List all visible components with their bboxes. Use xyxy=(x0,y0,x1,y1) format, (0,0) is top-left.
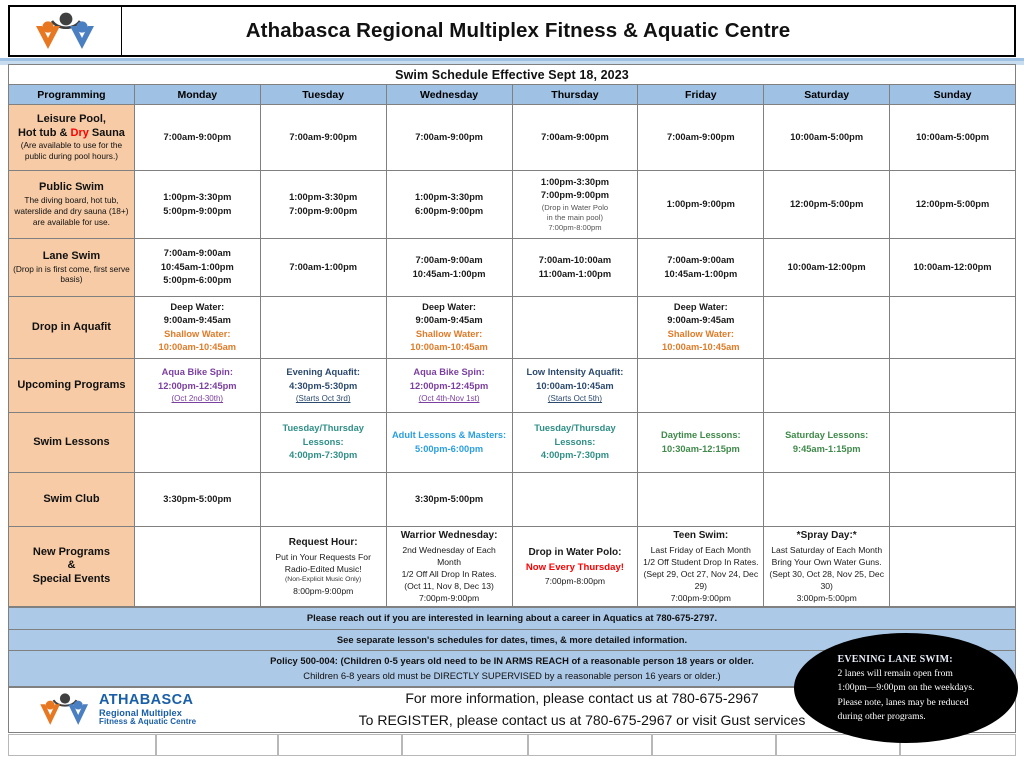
cell-line: 10:00am-12:00pm xyxy=(893,261,1012,274)
cell-line: 12:00pm-12:45pm xyxy=(390,380,509,393)
schedule-cell: 7:00am-9:00am10:45am-1:00pm5:00pm-6:00pm xyxy=(134,239,260,297)
athabasca-multiplex-logo-icon xyxy=(10,7,122,55)
schedule-cell: Aqua Bike Spin:12:00pm-12:45pm(Oct 4th-N… xyxy=(386,359,512,413)
row-label-title: Leisure Pool, xyxy=(12,113,131,127)
column-header-wednesday: Wednesday xyxy=(386,85,512,105)
evening-lane-swim-line-2: Please note, lanes may be reduced xyxy=(838,696,975,710)
cell-line: 10:00am-10:45am xyxy=(390,341,509,354)
row-label-title: Lane Swim xyxy=(12,250,131,264)
cell-line: (Sept 29, Oct 27, Nov 24, Dec 29) xyxy=(641,568,760,592)
cell-line: 11:00am-1:00pm xyxy=(516,268,635,281)
row-label-subtitle: (Are available to use for the public dur… xyxy=(12,140,131,162)
cell-line: Daytime Lessons: xyxy=(641,429,760,442)
schedule-cell: Teen Swim:Last Friday of Each Month1/2 O… xyxy=(638,527,764,607)
schedule-cell: 7:00am-9:00pm xyxy=(638,105,764,171)
schedule-cell: 10:00am-5:00pm xyxy=(764,105,890,171)
row-label: Drop in Aquafit xyxy=(9,297,135,359)
row-label: Public SwimThe diving board, hot tub, wa… xyxy=(9,171,135,239)
schedule-cell xyxy=(764,359,890,413)
cell-line: 7:00am-9:00pm xyxy=(138,131,257,144)
evening-lane-swim-line-3: during other programs. xyxy=(838,710,975,724)
cell-line: Saturday Lessons: xyxy=(767,429,886,442)
cell-line: 7:00am-9:00am xyxy=(138,247,257,260)
cell-line: 1:00pm-9:00pm xyxy=(641,198,760,211)
cell-line: 6:00pm-9:00pm xyxy=(390,205,509,218)
cell-line: (Starts Oct 5th) xyxy=(516,393,635,405)
cell-line: 3:00pm-5:00pm xyxy=(767,592,886,604)
row-label: Lane Swim(Drop in is first come, first s… xyxy=(9,239,135,297)
evening-lane-swim-line-1: 1:00pm—9:00pm on the weekdays. xyxy=(838,681,975,695)
schedule-body: Leisure Pool,Hot tub & Dry Sauna(Are ava… xyxy=(9,105,1016,607)
cell-line: Shallow Water: xyxy=(138,328,257,341)
cell-line: Aqua Bike Spin: xyxy=(390,366,509,379)
cell-line: Deep Water: xyxy=(641,301,760,314)
schedule-cell xyxy=(134,527,260,607)
row-label-title: Public Swim xyxy=(12,181,131,195)
cell-line: Drop in Water Polo: xyxy=(516,546,635,561)
row-label-part-b: Sauna xyxy=(89,127,125,139)
cell-line: 3:30pm-5:00pm xyxy=(390,493,509,506)
cell-line: Bring Your Own Water Guns. xyxy=(767,556,886,568)
cell-line: 10:45am-1:00pm xyxy=(641,268,760,281)
cell-line: Warrior Wednesday: xyxy=(390,529,509,544)
row-label: Upcoming Programs xyxy=(9,359,135,413)
schedule-cell: 7:00am-9:00pm xyxy=(386,105,512,171)
schedule-cell xyxy=(764,297,890,359)
cell-line: 2nd Wednesday of Each Month xyxy=(390,544,509,568)
schedule-cell: Evening Aquafit:4:30pm-5:30pm(Starts Oct… xyxy=(260,359,386,413)
schedule-cell: 1:00pm-3:30pm7:00pm-9:00pm(Drop in Water… xyxy=(512,171,638,239)
cell-line: Deep Water: xyxy=(138,301,257,314)
schedule-cell xyxy=(890,527,1016,607)
cell-line: 10:00am-12:00pm xyxy=(767,261,886,274)
bottom-grid-cell xyxy=(156,734,278,756)
cell-line: 12:00pm-5:00pm xyxy=(893,198,1012,211)
schedule-cell xyxy=(260,297,386,359)
schedule-row: New Programs&Special EventsRequest Hour:… xyxy=(9,527,1016,607)
cell-line: 9:00am-9:45am xyxy=(390,314,509,327)
cell-line: 12:00pm-5:00pm xyxy=(767,198,886,211)
cell-line: 9:00am-9:45am xyxy=(138,314,257,327)
evening-lane-swim-line-0: 2 lanes will remain open from xyxy=(838,667,975,681)
schedule-cell: 10:00am-12:00pm xyxy=(890,239,1016,297)
column-header-thursday: Thursday xyxy=(512,85,638,105)
schedule-cell xyxy=(512,473,638,527)
schedule-cell: Daytime Lessons:10:30am-12:15pm xyxy=(638,413,764,473)
cell-line: 10:00am-5:00pm xyxy=(893,131,1012,144)
cell-line: 1/2 Off Student Drop In Rates. xyxy=(641,556,760,568)
cell-line: 10:00am-10:45am xyxy=(641,341,760,354)
schedule-cell: 1:00pm-3:30pm5:00pm-9:00pm xyxy=(134,171,260,239)
cell-line: 7:00pm-9:00pm xyxy=(516,189,635,202)
cell-line: 10:30am-12:15pm xyxy=(641,443,760,456)
bottom-grid-cell xyxy=(652,734,776,756)
column-header-monday: Monday xyxy=(134,85,260,105)
cell-line: *Spray Day:* xyxy=(767,529,886,544)
cell-line: Evening Aquafit: xyxy=(264,366,383,379)
notice-cell: Please reach out if you are interested i… xyxy=(9,608,1016,630)
schedule-cell xyxy=(260,473,386,527)
schedule-cell: 7:00am-9:00pm xyxy=(134,105,260,171)
cell-line: Low Intensity Aquafit: xyxy=(516,366,635,379)
schedule-row: Drop in AquafitDeep Water:9:00am-9:45amS… xyxy=(9,297,1016,359)
schedule-row: Lane Swim(Drop in is first come, first s… xyxy=(9,239,1016,297)
row-label-title: Swim Club xyxy=(12,493,131,507)
row-label-title: Swim Lessons xyxy=(12,436,131,450)
schedule-cell: 7:00am-1:00pm xyxy=(260,239,386,297)
schedule-cell: Warrior Wednesday:2nd Wednesday of Each … xyxy=(386,527,512,607)
cell-line: 7:00am-9:00pm xyxy=(641,131,760,144)
schedule-cell xyxy=(512,297,638,359)
schedule-cell: 7:00am-9:00am10:45am-1:00pm xyxy=(386,239,512,297)
cell-line: 9:45am-1:15pm xyxy=(767,443,886,456)
row-label-part-dry: Dry xyxy=(71,127,89,139)
cell-line: Adult Lessons & Masters: xyxy=(390,429,509,442)
athabasca-multiplex-logo-icon-small xyxy=(37,688,93,732)
bottom-grid-cell xyxy=(402,734,528,756)
schedule-cell: 3:30pm-5:00pm xyxy=(386,473,512,527)
column-header-sunday: Sunday xyxy=(890,85,1016,105)
row-label-title: New Programs xyxy=(12,546,131,560)
cell-line: (Non-Explicit Music Only) xyxy=(264,575,383,585)
swim-schedule-page: Athabasca Regional Multiplex Fitness & A… xyxy=(0,0,1024,757)
cell-line: 1:00pm-3:30pm xyxy=(516,176,635,189)
cell-line: 1:00pm-3:30pm xyxy=(390,191,509,204)
cell-line: 1:00pm-3:30pm xyxy=(138,191,257,204)
column-header-friday: Friday xyxy=(638,85,764,105)
schedule-cell: 7:00am-9:00am10:45am-1:00pm xyxy=(638,239,764,297)
schedule-cell: 12:00pm-5:00pm xyxy=(764,171,890,239)
cell-line: 1/2 Off All Drop In Rates. xyxy=(390,568,509,580)
cell-line: Now Every Thursday! xyxy=(516,561,635,575)
schedule-cell: 10:00am-5:00pm xyxy=(890,105,1016,171)
bottom-grid-cell xyxy=(528,734,652,756)
schedule-row: Leisure Pool,Hot tub & Dry Sauna(Are ava… xyxy=(9,105,1016,171)
cell-line: Last Friday of Each Month xyxy=(641,544,760,556)
bottom-grid-cell xyxy=(278,734,402,756)
evening-lane-swim-heading: EVENING LANE SWIM: xyxy=(838,652,975,667)
cell-line: Put in Your Requests For xyxy=(264,551,383,563)
column-header-saturday: Saturday xyxy=(764,85,890,105)
schedule-cell: 1:00pm-3:30pm6:00pm-9:00pm xyxy=(386,171,512,239)
footer-logo-text: ATHABASCA Regional Multiplex Fitness & A… xyxy=(99,693,196,727)
schedule-cell: Adult Lessons & Masters:5:00pm-6:00pm xyxy=(386,413,512,473)
schedule-cell xyxy=(890,297,1016,359)
cell-line: (Oct 2nd-30th) xyxy=(138,393,257,405)
bottom-grid-cell xyxy=(8,734,156,756)
cell-line: 3:30pm-5:00pm xyxy=(138,493,257,506)
cell-line: 10:45am-1:00pm xyxy=(138,261,257,274)
cell-line: 7:00pm-8:00pm xyxy=(516,223,635,233)
row-label: New Programs&Special Events xyxy=(9,527,135,607)
schedule-cell xyxy=(134,413,260,473)
schedule-cell: 10:00am-12:00pm xyxy=(764,239,890,297)
cell-line: 5:00pm-6:00pm xyxy=(138,274,257,287)
cell-line: Aqua Bike Spin: xyxy=(138,366,257,379)
column-header-programming: Programming xyxy=(9,85,135,105)
schedule-cell: 1:00pm-9:00pm xyxy=(638,171,764,239)
schedule-cell xyxy=(764,473,890,527)
header-banner: Athabasca Regional Multiplex Fitness & A… xyxy=(8,5,1016,57)
cell-line: 5:00pm-6:00pm xyxy=(390,443,509,456)
cell-line: 10:45am-1:00pm xyxy=(390,268,509,281)
cell-line: (Oct 4th-Nov 1st) xyxy=(390,393,509,405)
schedule-cell: 7:00am-10:00am11:00am-1:00pm xyxy=(512,239,638,297)
schedule-cell: *Spray Day:*Last Saturday of Each MonthB… xyxy=(764,527,890,607)
cell-line: 4:00pm-7:30pm xyxy=(264,449,383,462)
schedule-cell: Request Hour:Put in Your Requests ForRad… xyxy=(260,527,386,607)
schedule-cell: Saturday Lessons:9:45am-1:15pm xyxy=(764,413,890,473)
row-label-subtitle: (Drop in is first come, first serve basi… xyxy=(12,264,131,286)
cell-line: 9:00am-9:45am xyxy=(641,314,760,327)
schedule-row: Upcoming ProgramsAqua Bike Spin:12:00pm-… xyxy=(9,359,1016,413)
cell-line: 1:00pm-3:30pm xyxy=(264,191,383,204)
row-label-title: Upcoming Programs xyxy=(12,379,131,393)
cell-line: Request Hour: xyxy=(264,536,383,551)
schedule-cell xyxy=(890,359,1016,413)
row-label-part-a: Hot tub & xyxy=(18,127,71,139)
cell-line: Last Saturday of Each Month xyxy=(767,544,886,556)
schedule-row: Swim LessonsTuesday/Thursday Lessons:4:0… xyxy=(9,413,1016,473)
schedule-cell: Low Intensity Aquafit:10:00am-10:45am(St… xyxy=(512,359,638,413)
row-label-subtitle: The diving board, hot tub, waterslide an… xyxy=(12,195,131,227)
cell-line: (Oct 11, Nov 8, Dec 13) xyxy=(390,580,509,592)
row-label: Swim Lessons xyxy=(9,413,135,473)
schedule-cell: Deep Water:9:00am-9:45amShallow Water:10… xyxy=(638,297,764,359)
cell-line: Tuesday/Thursday Lessons: xyxy=(516,422,635,449)
cell-line: Radio-Edited Music! xyxy=(264,563,383,575)
schedule-cell: Deep Water:9:00am-9:45amShallow Water:10… xyxy=(134,297,260,359)
schedule-cell xyxy=(890,413,1016,473)
cell-line: (Starts Oct 3rd) xyxy=(264,393,383,405)
cell-line: 7:00am-9:00am xyxy=(390,254,509,267)
schedule-subtitle: Swim Schedule Effective Sept 18, 2023 xyxy=(9,65,1016,85)
row-label-title-2: Hot tub & Dry Sauna xyxy=(12,127,131,141)
cell-line: 12:00pm-12:45pm xyxy=(138,380,257,393)
schedule-cell: 7:00am-9:00pm xyxy=(260,105,386,171)
cell-line: 7:00am-9:00pm xyxy=(390,131,509,144)
cell-line: Shallow Water: xyxy=(390,328,509,341)
schedule-cell: Tuesday/Thursday Lessons:4:00pm-7:30pm xyxy=(260,413,386,473)
schedule-cell: 12:00pm-5:00pm xyxy=(890,171,1016,239)
cell-line: 10:00am-5:00pm xyxy=(767,131,886,144)
footer-logo-line3: Fitness & Aquatic Centre xyxy=(99,718,196,727)
footer-logo-line1: ATHABASCA xyxy=(99,693,196,709)
notice-row: Please reach out if you are interested i… xyxy=(9,608,1016,630)
cell-line: 10:00am-10:45am xyxy=(516,380,635,393)
cell-line: Tuesday/Thursday Lessons: xyxy=(264,422,383,449)
schedule-cell: Tuesday/Thursday Lessons:4:00pm-7:30pm xyxy=(512,413,638,473)
column-header-tuesday: Tuesday xyxy=(260,85,386,105)
schedule-cell: 7:00am-9:00pm xyxy=(512,105,638,171)
cell-line: 5:00pm-9:00pm xyxy=(138,205,257,218)
cell-line: (Sept 30, Oct 28, Nov 25, Dec 30) xyxy=(767,568,886,592)
row-label-title: Special Events xyxy=(12,573,131,587)
cell-line: 7:00pm-8:00pm xyxy=(516,575,635,587)
schedule-cell: Deep Water:9:00am-9:45amShallow Water:10… xyxy=(386,297,512,359)
notice-line: Please reach out if you are interested i… xyxy=(13,611,1011,626)
cell-line: 7:00am-10:00am xyxy=(516,254,635,267)
cell-line: Shallow Water: xyxy=(641,328,760,341)
schedule-cell: 1:00pm-3:30pm7:00pm-9:00pm xyxy=(260,171,386,239)
schedule-cell xyxy=(638,359,764,413)
cell-line: Teen Swim: xyxy=(641,529,760,544)
cell-line: 7:00am-9:00am xyxy=(641,254,760,267)
cell-line: 7:00am-9:00pm xyxy=(516,131,635,144)
evening-lane-swim-callout: EVENING LANE SWIM: 2 lanes will remain o… xyxy=(795,634,1017,742)
schedule-subtitle-row: Swim Schedule Effective Sept 18, 2023 xyxy=(9,65,1016,85)
row-label: Leisure Pool,Hot tub & Dry Sauna(Are ava… xyxy=(9,105,135,171)
cell-line: Deep Water: xyxy=(390,301,509,314)
row-label-title: & xyxy=(12,559,131,573)
schedule-cell: Aqua Bike Spin:12:00pm-12:45pm(Oct 2nd-3… xyxy=(134,359,260,413)
schedule-row: Public SwimThe diving board, hot tub, wa… xyxy=(9,171,1016,239)
cell-line: 7:00pm-9:00pm xyxy=(641,592,760,604)
row-label: Swim Club xyxy=(9,473,135,527)
page-title: Athabasca Regional Multiplex Fitness & A… xyxy=(122,19,1014,43)
schedule-cell: 3:30pm-5:00pm xyxy=(134,473,260,527)
cell-line: in the main pool) xyxy=(516,213,635,223)
evening-lane-swim-text: EVENING LANE SWIM: 2 lanes will remain o… xyxy=(818,652,995,725)
schedule-cell xyxy=(890,473,1016,527)
cell-line: 4:00pm-7:30pm xyxy=(516,449,635,462)
schedule-row: Swim Club3:30pm-5:00pm3:30pm-5:00pm xyxy=(9,473,1016,527)
cell-line: 7:00am-9:00pm xyxy=(264,131,383,144)
cell-line: 4:30pm-5:30pm xyxy=(264,380,383,393)
cell-line: (Drop in Water Polo xyxy=(516,203,635,213)
schedule-cell: Drop in Water Polo:Now Every Thursday!7:… xyxy=(512,527,638,607)
schedule-cell xyxy=(638,473,764,527)
row-label-title: Drop in Aquafit xyxy=(12,321,131,335)
footer-logo: ATHABASCA Regional Multiplex Fitness & A… xyxy=(9,688,239,732)
cell-line: 7:00am-1:00pm xyxy=(264,261,383,274)
cell-line: 10:00am-10:45am xyxy=(138,341,257,354)
swim-schedule-table: Swim Schedule Effective Sept 18, 2023 Pr… xyxy=(8,64,1016,607)
cell-line: 7:00pm-9:00pm xyxy=(390,592,509,604)
schedule-header-row: Programming Monday Tuesday Wednesday Thu… xyxy=(9,85,1016,105)
cell-line: 8:00pm-9:00pm xyxy=(264,585,383,597)
cell-line: 7:00pm-9:00pm xyxy=(264,205,383,218)
